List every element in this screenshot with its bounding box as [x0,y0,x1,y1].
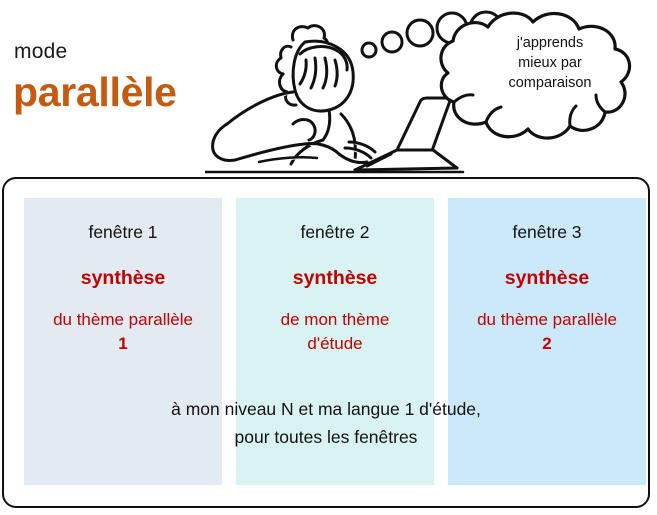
synthese-label-2: synthèse [236,267,434,290]
window-desc-number-3: 2 [542,334,551,353]
window-description-2: de mon thème d'étude [236,308,434,356]
window-desc-number-1: 1 [118,334,127,353]
window-description-3: du thème parallèle 2 [448,308,646,356]
mode-label: mode [14,40,67,64]
thought-bubble-text: j'apprends mieux par comparaison [480,33,620,93]
window-description-1: du thème parallèle 1 [24,308,222,356]
window-column-1[interactable]: fenêtre 1 synthèse du thème parallèle 1 [24,198,222,485]
thought-bubble-line-3: comparaison [508,75,591,91]
window-column-2[interactable]: fenêtre 2 synthèse de mon thème d'étude [236,198,434,485]
window-desc-text-2: de mon thème [281,310,390,329]
parallel-mode-panel: fenêtre 1 synthèse du thème parallèle 1 … [2,177,650,508]
synthese-label-1: synthèse [24,267,222,290]
window-label-3: fenêtre 3 [448,222,646,243]
window-desc-text-1: du thème parallèle [53,310,193,329]
window-desc-text-3: du thème parallèle [477,310,617,329]
thought-bubble-line-1: j'apprends [517,35,583,51]
header-area: mode parallèle [0,0,657,177]
thought-bubble-line-2: mieux par [518,55,582,71]
window-column-3[interactable]: fenêtre 3 synthèse du thème parallèle 2 [448,198,646,485]
synthese-label-3: synthèse [448,267,646,290]
window-label-1: fenêtre 1 [24,222,222,243]
window-desc-number-2: d'étude [307,334,362,353]
window-label-2: fenêtre 2 [236,222,434,243]
page-title: parallèle [13,72,177,113]
window-columns: fenêtre 1 synthèse du thème parallèle 1 … [4,179,648,506]
